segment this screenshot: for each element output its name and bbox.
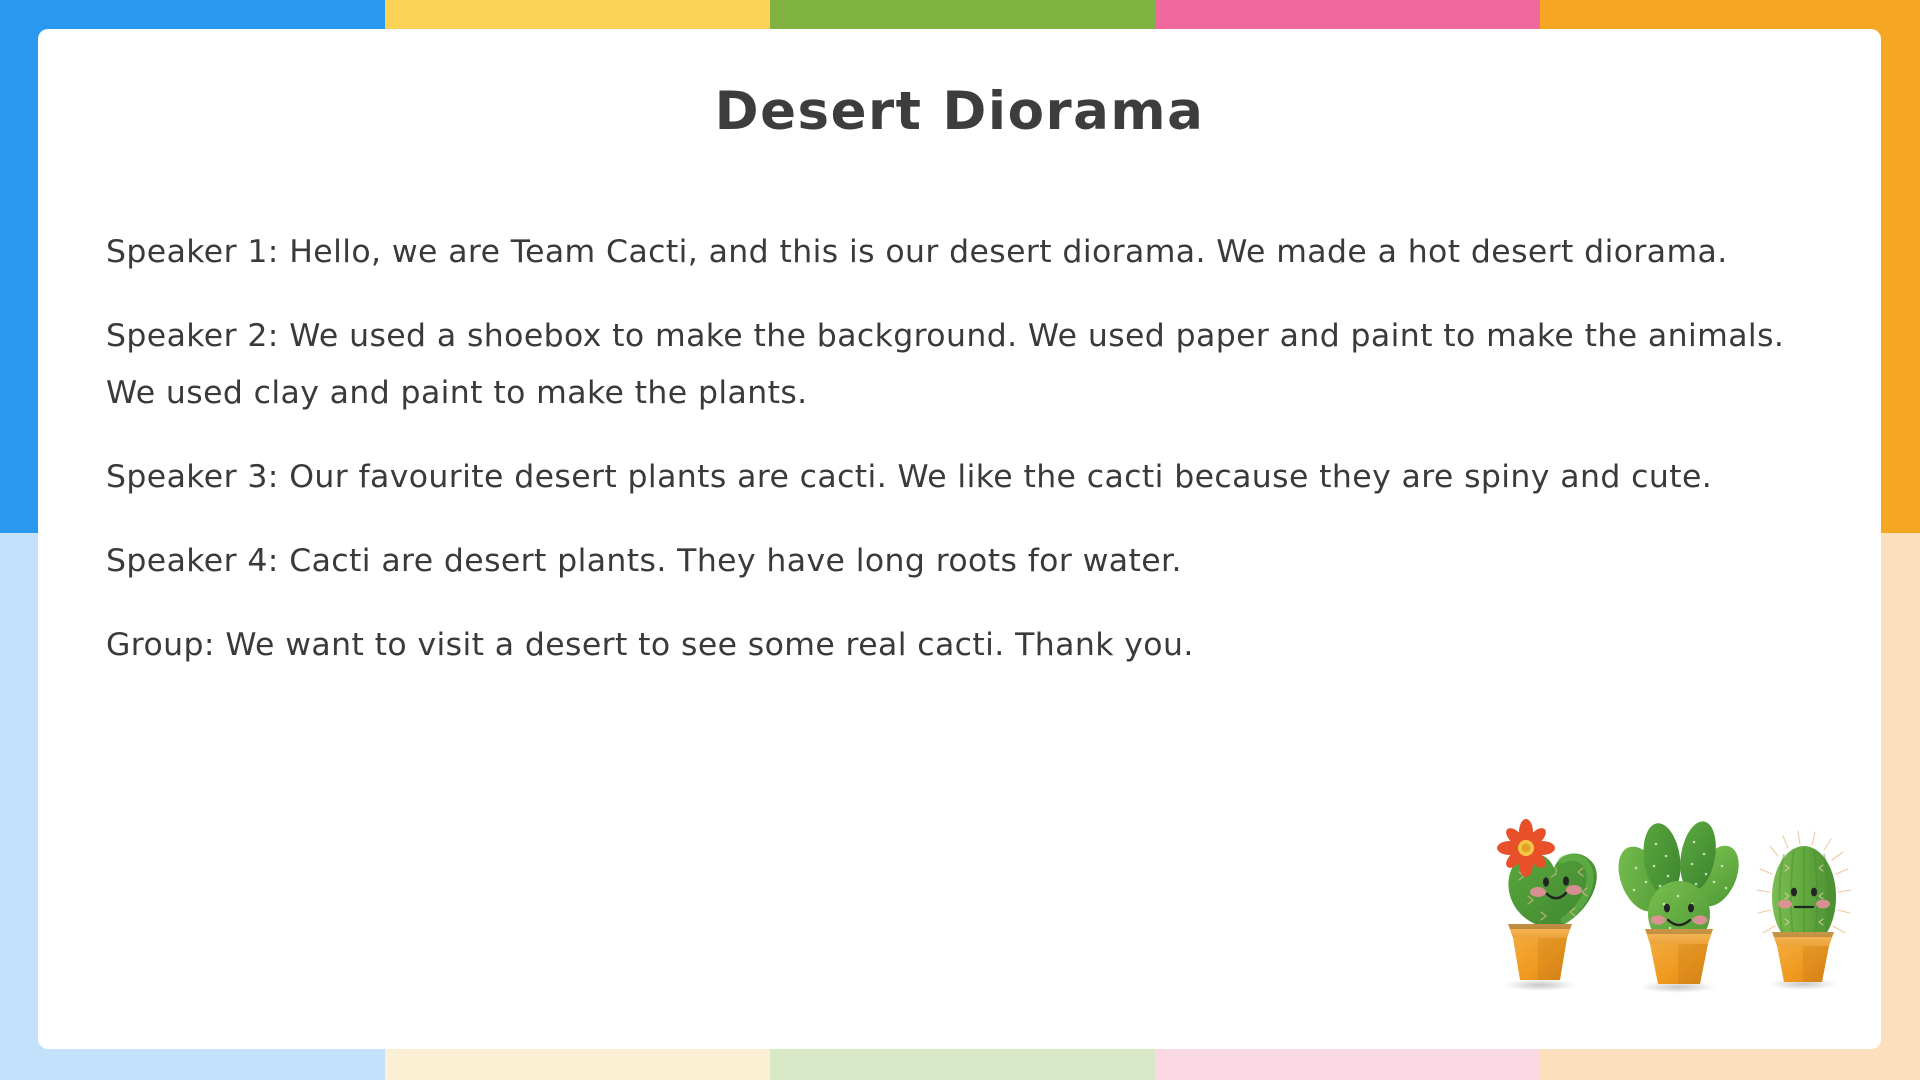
cheek-left xyxy=(1651,915,1666,924)
cheek-left xyxy=(1530,887,1546,897)
eye-left xyxy=(1543,877,1549,886)
paragraph-speaker-4: Speaker 4: Cacti are desert plants. They… xyxy=(106,533,1816,590)
cheek-right xyxy=(1566,885,1582,895)
cacti-illustration xyxy=(1478,804,1878,994)
eye-right xyxy=(1563,876,1569,885)
cheek-right xyxy=(1693,915,1708,924)
pot-2 xyxy=(1645,929,1713,984)
cheek-left xyxy=(1778,900,1792,909)
eye-right xyxy=(1688,904,1694,913)
eye-left xyxy=(1791,888,1797,897)
shadow-pot-1 xyxy=(1504,979,1576,991)
prickly-pear-group xyxy=(1610,819,1748,984)
eye-left xyxy=(1664,904,1670,913)
eye-right xyxy=(1811,888,1817,897)
pot-1 xyxy=(1508,924,1572,980)
page-title: Desert Diorama xyxy=(38,81,1881,142)
paragraph-speaker-2: Speaker 2: We used a shoebox to make the… xyxy=(106,308,1816,422)
slide-canvas: Desert Diorama Speaker 1: Hello, we are … xyxy=(0,0,1920,1080)
cheek-right xyxy=(1816,900,1830,909)
speaker-script: Speaker 1: Hello, we are Team Cacti, and… xyxy=(106,224,1816,674)
content-card: Desert Diorama Speaker 1: Hello, we are … xyxy=(38,29,1881,1049)
pot-3 xyxy=(1772,932,1834,982)
paragraph-speaker-3: Speaker 3: Our favourite desert plants a… xyxy=(106,449,1816,506)
heart-cactus-group xyxy=(1497,819,1597,980)
paragraph-group: Group: We want to visit a desert to see … xyxy=(106,617,1816,674)
barrel-cactus-group xyxy=(1757,831,1851,982)
paragraph-speaker-1: Speaker 1: Hello, we are Team Cacti, and… xyxy=(106,224,1816,281)
